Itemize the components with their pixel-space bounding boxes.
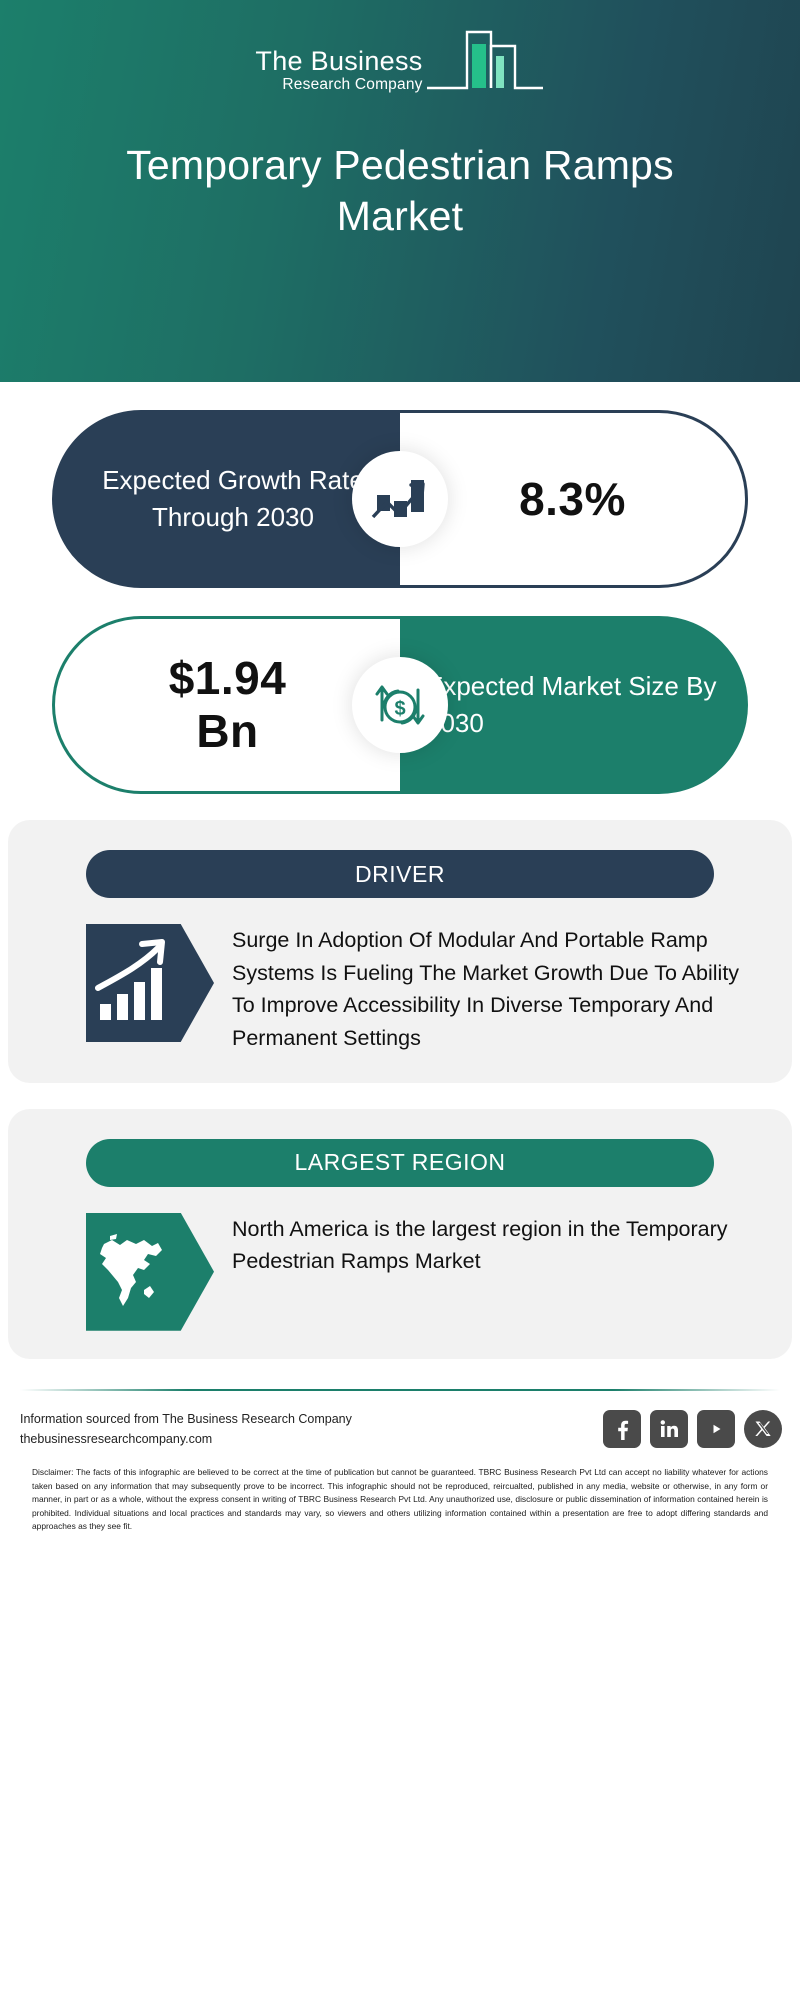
market-size-value-line1: $1.94 <box>169 652 287 704</box>
driver-icon-badge <box>86 924 214 1042</box>
growth-chart-arrow-icon <box>352 451 448 547</box>
largest-region-pill: LARGEST REGION <box>86 1139 714 1187</box>
driver-panel: DRIVER Surge In Adoption Of Modular And … <box>8 820 792 1083</box>
header-banner: The Business Research Company Temporary … <box>0 0 800 382</box>
source-line-2[interactable]: thebusinessresearchcompany.com <box>20 1432 212 1446</box>
north-america-map-icon <box>86 1213 214 1331</box>
linkedin-icon[interactable] <box>650 1410 688 1448</box>
expected-growth-rate-card: Expected Growth Rate Through 2030 8.3% <box>52 410 748 588</box>
growth-value: 8.3% <box>519 472 626 526</box>
market-size-label: Expected Market Size By 2030 <box>400 668 748 742</box>
expected-market-size-card: $1.94 Bn Expected Market Size By 2030 $ <box>52 616 748 794</box>
dollar-circular-arrows-icon: $ <box>352 657 448 753</box>
source-text: Information sourced from The Business Re… <box>20 1409 352 1450</box>
stats-section: Expected Growth Rate Through 2030 8.3% $… <box>0 410 800 794</box>
page-title: Temporary Pedestrian Ramps Market <box>0 98 800 243</box>
market-size-value-line2: Bn <box>196 705 258 757</box>
social-links <box>603 1410 782 1448</box>
driver-body: Surge In Adoption Of Modular And Portabl… <box>8 898 792 1055</box>
youtube-icon[interactable] <box>697 1410 735 1448</box>
growth-label: Expected Growth Rate Through 2030 <box>52 462 400 536</box>
growth-label-panel: Expected Growth Rate Through 2030 <box>52 410 400 588</box>
logo-text: The Business Research Company <box>255 48 422 99</box>
logo-secondary-text: Research Company <box>255 77 422 93</box>
market-size-label-panel: Expected Market Size By 2030 <box>400 616 748 794</box>
facebook-icon[interactable] <box>603 1410 641 1448</box>
source-line-1: Information sourced from The Business Re… <box>20 1412 352 1426</box>
largest-region-text: North America is the largest region in t… <box>232 1213 748 1331</box>
disclaimer-text: Disclaimer: The facts of this infographi… <box>14 1450 786 1534</box>
largest-region-panel: LARGEST REGION North America is the larg… <box>8 1109 792 1359</box>
largest-region-body: North America is the largest region in t… <box>8 1187 792 1331</box>
market-size-value-panel: $1.94 Bn <box>52 616 400 794</box>
driver-text: Surge In Adoption Of Modular And Portabl… <box>232 924 748 1055</box>
logo-primary-text: The Business <box>255 48 422 75</box>
company-logo: The Business Research Company <box>0 0 800 98</box>
region-icon-badge <box>86 1213 214 1331</box>
largest-region-pill-label: LARGEST REGION <box>294 1149 505 1176</box>
driver-pill: DRIVER <box>86 850 714 898</box>
source-row: Information sourced from The Business Re… <box>14 1391 786 1450</box>
driver-pill-label: DRIVER <box>355 861 445 888</box>
market-size-value: $1.94 Bn <box>169 652 287 758</box>
bar-chart-growth-icon <box>86 924 214 1042</box>
bar-chart-logo-mark-icon <box>425 22 545 94</box>
footer: Information sourced from The Business Re… <box>0 1389 800 1534</box>
svg-text:$: $ <box>394 698 405 720</box>
growth-value-panel: 8.3% <box>400 410 748 588</box>
x-twitter-icon[interactable] <box>744 1410 782 1448</box>
